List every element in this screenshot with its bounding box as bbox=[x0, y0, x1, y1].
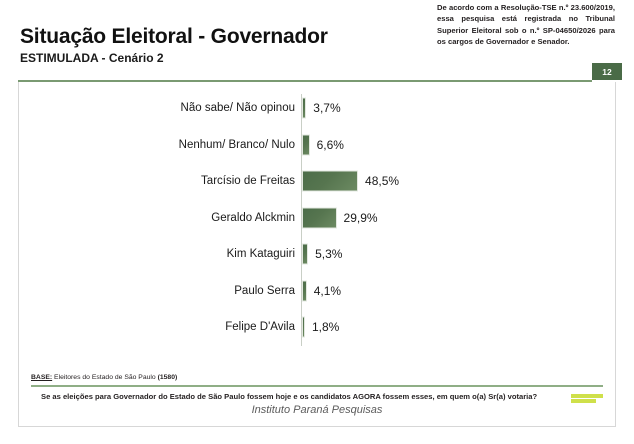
bar-value-label: 48,5% bbox=[365, 174, 399, 188]
bar-category-label: Kim Kataguiri bbox=[227, 248, 295, 260]
bar-row: Não sabe/ Não opinou3,7% bbox=[19, 90, 615, 127]
page-number-badge: 12 bbox=[592, 63, 622, 80]
bar-category-label: Paulo Serra bbox=[234, 285, 295, 297]
bar-value-label: 6,6% bbox=[317, 138, 344, 152]
bar-fill bbox=[302, 207, 337, 228]
bar-fill bbox=[302, 171, 358, 192]
bar-fill bbox=[302, 244, 308, 265]
bar-row: Paulo Serra4,1% bbox=[19, 273, 615, 310]
bar-fill bbox=[302, 280, 307, 301]
slide-header: Situação Eleitoral - Governador ESTIMULA… bbox=[0, 0, 634, 82]
bar-row: Kim Kataguiri5,3% bbox=[19, 236, 615, 273]
bar-row: Tarcísio de Freitas48,5% bbox=[19, 163, 615, 200]
page-subtitle: ESTIMULADA - Cenário 2 bbox=[20, 51, 328, 65]
bar-rows: Não sabe/ Não opinou3,7%Nenhum/ Branco/ … bbox=[19, 90, 615, 346]
bar-fill bbox=[302, 98, 306, 119]
survey-question: Se as eleições para Governador do Estado… bbox=[41, 392, 537, 401]
bar-value-label: 5,3% bbox=[315, 247, 342, 261]
legal-registration-note: De acordo com a Resolução-TSE n.º 23.600… bbox=[437, 2, 615, 48]
bar-row: Felipe D'Avila1,8% bbox=[19, 309, 615, 346]
bar-category-label: Nenhum/ Branco/ Nulo bbox=[179, 139, 295, 151]
bar-row: Nenhum/ Branco/ Nulo6,6% bbox=[19, 127, 615, 164]
logo-bar-bottom bbox=[571, 399, 596, 403]
base-label: BASE: bbox=[31, 374, 52, 381]
parana-pesquisas-logo-icon bbox=[571, 394, 603, 403]
chart-panel: Não sabe/ Não opinou3,7%Nenhum/ Branco/ … bbox=[18, 82, 616, 427]
base-text: Eleitores do Estado de São Paulo bbox=[54, 374, 156, 381]
bar-value-label: 3,7% bbox=[313, 101, 340, 115]
bar-value-label: 1,8% bbox=[312, 320, 339, 334]
bar-value-label: 29,9% bbox=[344, 211, 378, 225]
page-title: Situação Eleitoral - Governador bbox=[20, 26, 328, 48]
bar-category-label: Felipe D'Avila bbox=[225, 321, 295, 333]
base-sample-size: (1580) bbox=[158, 374, 178, 381]
bar-row: Geraldo Alckmin29,9% bbox=[19, 200, 615, 237]
bar-category-label: Geraldo Alckmin bbox=[211, 212, 295, 224]
bar-chart: Não sabe/ Não opinou3,7%Nenhum/ Branco/ … bbox=[19, 90, 615, 350]
bar-fill bbox=[302, 134, 310, 155]
logo-bar-top bbox=[571, 394, 603, 398]
bar-fill bbox=[302, 317, 305, 338]
footer-divider bbox=[31, 385, 603, 387]
bar-category-label: Não sabe/ Não opinou bbox=[181, 102, 295, 114]
bar-value-label: 4,1% bbox=[314, 284, 341, 298]
slide: Situação Eleitoral - Governador ESTIMULA… bbox=[0, 0, 634, 444]
base-line: BASE: Eleitores do Estado de São Paulo (… bbox=[31, 374, 177, 381]
title-block: Situação Eleitoral - Governador ESTIMULA… bbox=[20, 26, 328, 65]
institute-credit: Instituto Paraná Pesquisas bbox=[19, 404, 615, 416]
bar-category-label: Tarcísio de Freitas bbox=[201, 175, 295, 187]
